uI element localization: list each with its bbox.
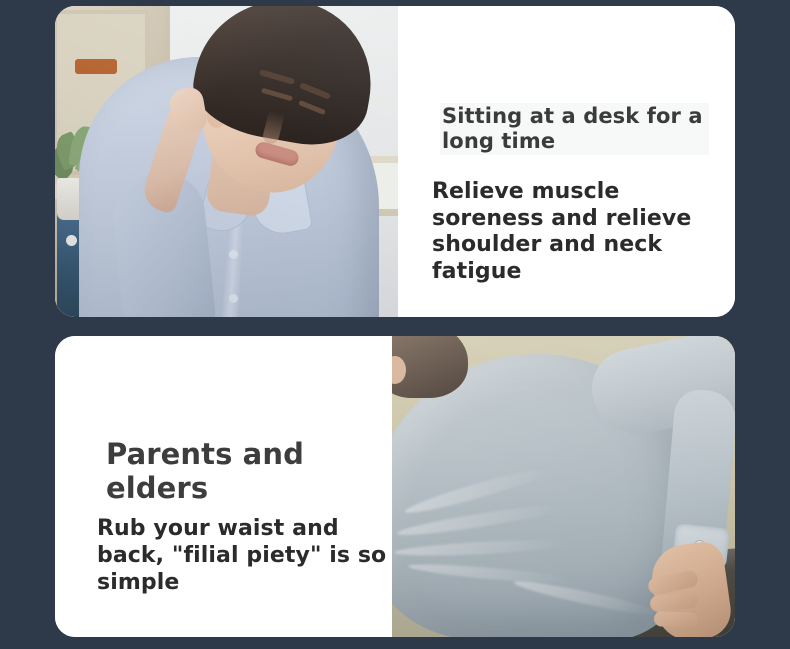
man-back-pain-photo — [392, 336, 735, 637]
neck-relief-kicker: Sitting at a desk for a long time — [440, 103, 709, 155]
parents-elders-headline: Rub your waist and back, "filial piety" … — [97, 515, 409, 596]
woman-neck-pain-photo — [55, 6, 398, 317]
photo-shading — [392, 336, 735, 637]
parents-elders-kicker: Parents and elders — [106, 437, 406, 505]
neck-relief-headline: Relieve muscle soreness and relieve shou… — [432, 179, 714, 285]
promo-page: Sitting at a desk for a long time Reliev… — [0, 0, 790, 649]
photo-shading — [55, 6, 398, 317]
